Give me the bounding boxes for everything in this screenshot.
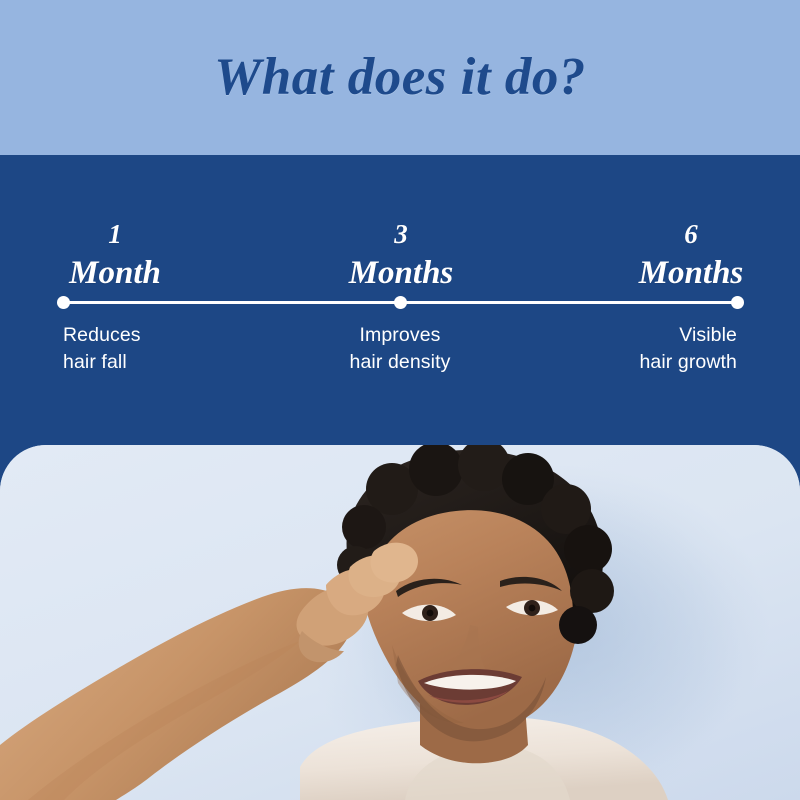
milestone-3-number: 3 <box>330 221 472 248</box>
milestone-1-heading: 1 Month <box>55 221 175 290</box>
page-title: What does it do? <box>214 51 586 104</box>
milestone-3-benefit-line2: hair density <box>305 349 495 376</box>
milestone-1-benefit: Reduces hair fall <box>63 322 253 376</box>
timeline-dot-1-month <box>57 296 70 309</box>
milestone-3-unit: Months <box>330 257 472 290</box>
milestone-6-benefit: Visible hair growth <box>547 322 737 376</box>
milestone-1-number: 1 <box>55 221 175 248</box>
milestone-3-benefit: Improves hair density <box>305 322 495 376</box>
timeline-band: 1 Month 3 Months 6 Months Reduces hair f… <box>0 155 800 475</box>
promo-poster: What does it do? 1 Month 3 Months 6 Mont… <box>0 0 800 800</box>
milestone-3-heading: 3 Months <box>330 221 472 290</box>
milestone-1-unit: Month <box>55 257 175 290</box>
milestone-6-heading: 6 Months <box>620 221 762 290</box>
model-portrait-image <box>0 445 800 800</box>
photo-panel <box>0 445 800 800</box>
milestone-1-benefit-line1: Reduces <box>63 322 253 349</box>
timeline-dot-3-months <box>394 296 407 309</box>
milestone-1-benefit-line2: hair fall <box>63 349 253 376</box>
milestone-6-benefit-line1: Visible <box>547 322 737 349</box>
milestone-6-unit: Months <box>620 257 762 290</box>
milestone-3-benefit-line1: Improves <box>305 322 495 349</box>
header-band: What does it do? <box>0 0 800 155</box>
timeline-dot-6-months <box>731 296 744 309</box>
milestone-6-number: 6 <box>620 221 762 248</box>
milestone-6-benefit-line2: hair growth <box>547 349 737 376</box>
